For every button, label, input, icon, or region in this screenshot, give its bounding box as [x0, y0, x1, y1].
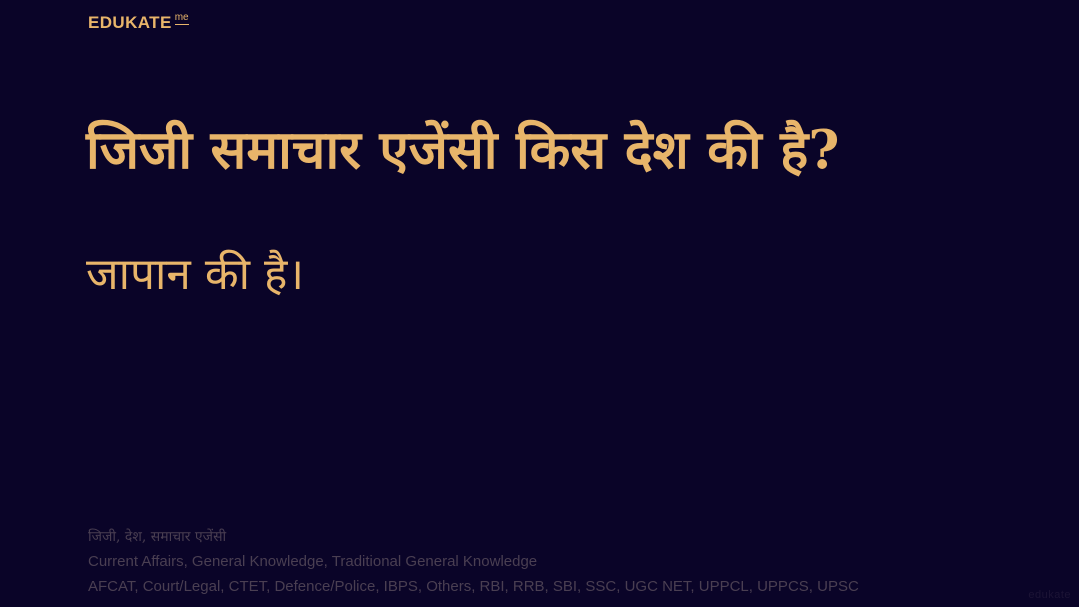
- corner-watermark: edukate: [1028, 589, 1071, 601]
- slide-canvas: EDUKATE me जिजी समाचार एजेंसी किस देश की…: [0, 0, 1079, 607]
- footer-tag-line-hindi: जिजी, देश, समाचार एजेंसी: [88, 525, 1048, 549]
- footer-tags: जिजी, देश, समाचार एजेंसी Current Affairs…: [88, 525, 1048, 599]
- answer-text: जापान की है।: [86, 246, 1016, 303]
- brand-logo[interactable]: EDUKATE me: [88, 14, 189, 31]
- brand-logo-superscript: me: [175, 13, 189, 25]
- brand-logo-text: EDUKATE: [88, 14, 172, 31]
- question-heading: जिजी समाचार एजेंसी किस देश की है?: [86, 118, 1016, 183]
- footer-tag-line-subjects: Current Affairs, General Knowledge, Trad…: [88, 549, 1048, 574]
- footer-tag-line-exams: AFCAT, Court/Legal, CTET, Defence/Police…: [88, 574, 1048, 599]
